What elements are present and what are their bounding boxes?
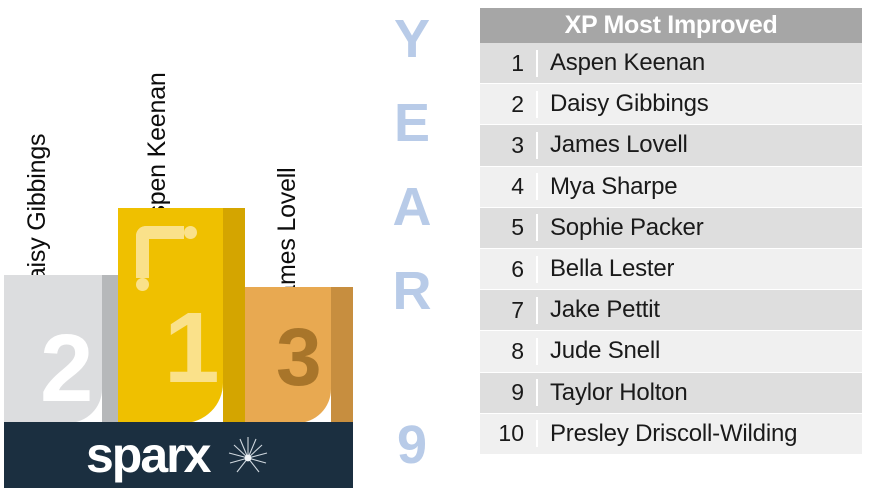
podium-block-silver: 2 [4, 275, 124, 423]
podium-rank-numeral-silver: 2 [40, 321, 93, 417]
table-body: 1Aspen Keenan2Daisy Gibbings3James Lovel… [480, 43, 862, 455]
table-cell-rank: 7 [480, 297, 538, 324]
year-letter-y: Y [382, 12, 442, 66]
table-row[interactable]: 10Presley Driscoll-Wilding [480, 414, 862, 455]
table-cell-rank: 5 [480, 214, 538, 241]
podium-block-gold-side [223, 208, 245, 423]
table-cell-name: Sophie Packer [538, 214, 704, 242]
table-row[interactable]: 9Taylor Holton [480, 373, 862, 414]
table-cell-name: James Lovell [538, 131, 688, 159]
year-label-stack: Y E A R 9 [382, 0, 442, 494]
table-cell-rank: 10 [480, 420, 538, 447]
sparx-brand-bar: sparx [4, 422, 353, 488]
table-cell-name: Bella Lester [538, 255, 674, 283]
table-header-title: XP Most Improved [480, 8, 862, 43]
table-cell-rank: 4 [480, 173, 538, 200]
year-number: 9 [382, 418, 442, 472]
table-cell-name: Mya Sharpe [538, 173, 677, 201]
sparx-logo-text: sparx [86, 427, 209, 483]
table-row[interactable]: 2Daisy Gibbings [480, 84, 862, 125]
table-cell-rank: 6 [480, 256, 538, 283]
year-letter-r: R [382, 264, 442, 318]
table-cell-name: Jude Snell [538, 337, 660, 365]
table-row[interactable]: 5Sophie Packer [480, 208, 862, 249]
podium-block-bronze-side [331, 287, 353, 423]
table-row[interactable]: 4Mya Sharpe [480, 167, 862, 208]
table-row[interactable]: 8Jude Snell [480, 331, 862, 372]
table-row[interactable]: 6Bella Lester [480, 249, 862, 290]
table-cell-rank: 9 [480, 379, 538, 406]
podium-rank-numeral-gold: 1 [164, 298, 220, 398]
table-row[interactable]: 7Jake Pettit [480, 290, 862, 331]
podium-block-bronze: 3 [240, 287, 353, 423]
table-cell-name: Presley Driscoll-Wilding [538, 420, 797, 448]
year-letter-e: E [382, 96, 442, 150]
table-cell-rank: 2 [480, 91, 538, 118]
table-row[interactable]: 1Aspen Keenan [480, 43, 862, 84]
podium-rank-numeral-bronze: 3 [276, 317, 322, 399]
corner-bracket-icon [136, 226, 184, 278]
table-cell-rank: 3 [480, 132, 538, 159]
spark-burst-icon [226, 436, 270, 480]
xp-most-improved-table: XP Most Improved 1Aspen Keenan2Daisy Gib… [480, 8, 862, 455]
table-cell-rank: 8 [480, 338, 538, 365]
table-row[interactable]: 3James Lovell [480, 125, 862, 166]
table-cell-name: Jake Pettit [538, 296, 660, 324]
podium-block-gold: 1 [118, 208, 245, 423]
table-cell-rank: 1 [480, 50, 538, 77]
table-cell-name: Daisy Gibbings [538, 90, 709, 118]
table-cell-name: Taylor Holton [538, 379, 687, 407]
year-letter-a: A [382, 180, 442, 234]
table-cell-name: Aspen Keenan [538, 49, 705, 77]
